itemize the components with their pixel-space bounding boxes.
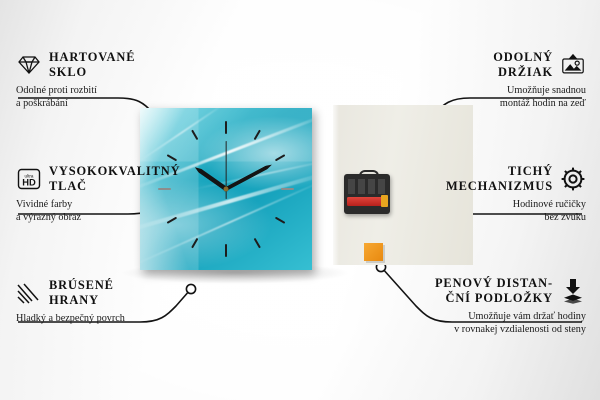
feature-high-quality-print: ultra HD VYSOKOKVALITNÝ TLAČ Vividné far… [16, 164, 206, 224]
feature-ground-edges: BRÚSENÉ HRANY Hladký a bezpečný povrch [16, 278, 206, 326]
feature-title-line2: DRŽIAK [498, 65, 553, 80]
feature-sub-line1: Hladký a bezpečný povrch [16, 313, 206, 326]
feature-title-line2: SKLO [49, 65, 135, 80]
battery [347, 197, 383, 206]
feature-sub-line2: montáž hodin na zeď [394, 98, 586, 111]
feature-sub-line1: Hodinové ručičky [394, 199, 586, 212]
feature-title-line1: ODOLNÝ [493, 50, 553, 65]
feature-sub-line2: a poškrábání [16, 98, 206, 111]
feature-sub-line2: a výrazný obraz [16, 212, 206, 225]
feature-tempered-glass: HARTOVANÉ SKLO Odolné proti rozbití a po… [16, 50, 206, 110]
feature-sub-line1: Odolné proti rozbití [16, 85, 206, 98]
feature-title-line1: VYSOKOKVALITNÝ [49, 164, 180, 179]
feature-silent-mechanism: TICHÝ MECHANIZMUS Hodinové ručičky bez z… [394, 164, 586, 224]
feature-title-line1: BRÚSENÉ [49, 278, 114, 293]
feature-title-line1: HARTOVANÉ [49, 50, 135, 65]
picture-frame-hook-icon [560, 52, 586, 78]
feature-title-line2: ČNÍ PODLOŽKY [445, 291, 553, 306]
feature-durable-hanger: ODOLNÝ DRŽIAK Umožňuje snadnou montáž ho… [394, 50, 586, 110]
arrow-onto-layers-icon [560, 278, 586, 304]
infographic-canvas: HARTOVANÉ SKLO Odolné proti rozbití a po… [0, 0, 600, 400]
feature-title-line2: HRANY [49, 293, 114, 308]
feature-foam-spacers: PENOVÝ DISTAN- ČNÍ PODLOŽKY Umožňuje vám… [386, 276, 586, 336]
feature-sub-line1: Vividné farby [16, 199, 206, 212]
feature-title-line2: MECHANIZMUS [446, 179, 553, 194]
gear-icon [560, 166, 586, 192]
movement-knob [381, 195, 388, 207]
foam-spacer-pad [364, 243, 383, 261]
feature-title-line1: TICHÝ [508, 164, 553, 179]
clock-center-pin [224, 187, 229, 192]
clock-second-hand [225, 131, 226, 189]
ultra-hd-icon: ultra HD [16, 166, 42, 192]
feature-sub-line2: v rovnakej vzdialenosti od steny [386, 324, 586, 337]
svg-text:HD: HD [22, 177, 36, 188]
feature-title-line2: TLAČ [49, 179, 180, 194]
feature-sub-line2: bez zvuku [394, 212, 586, 225]
diagonal-lines-icon [16, 280, 42, 306]
clock-movement [344, 170, 390, 214]
feature-title-line1: PENOVÝ DISTAN- [435, 276, 553, 291]
movement-vents [348, 179, 386, 194]
feature-sub-line1: Umožňuje vám držať hodiny [386, 311, 586, 324]
diamond-icon [16, 52, 42, 78]
feature-sub-line1: Umožňuje snadnou [394, 85, 586, 98]
